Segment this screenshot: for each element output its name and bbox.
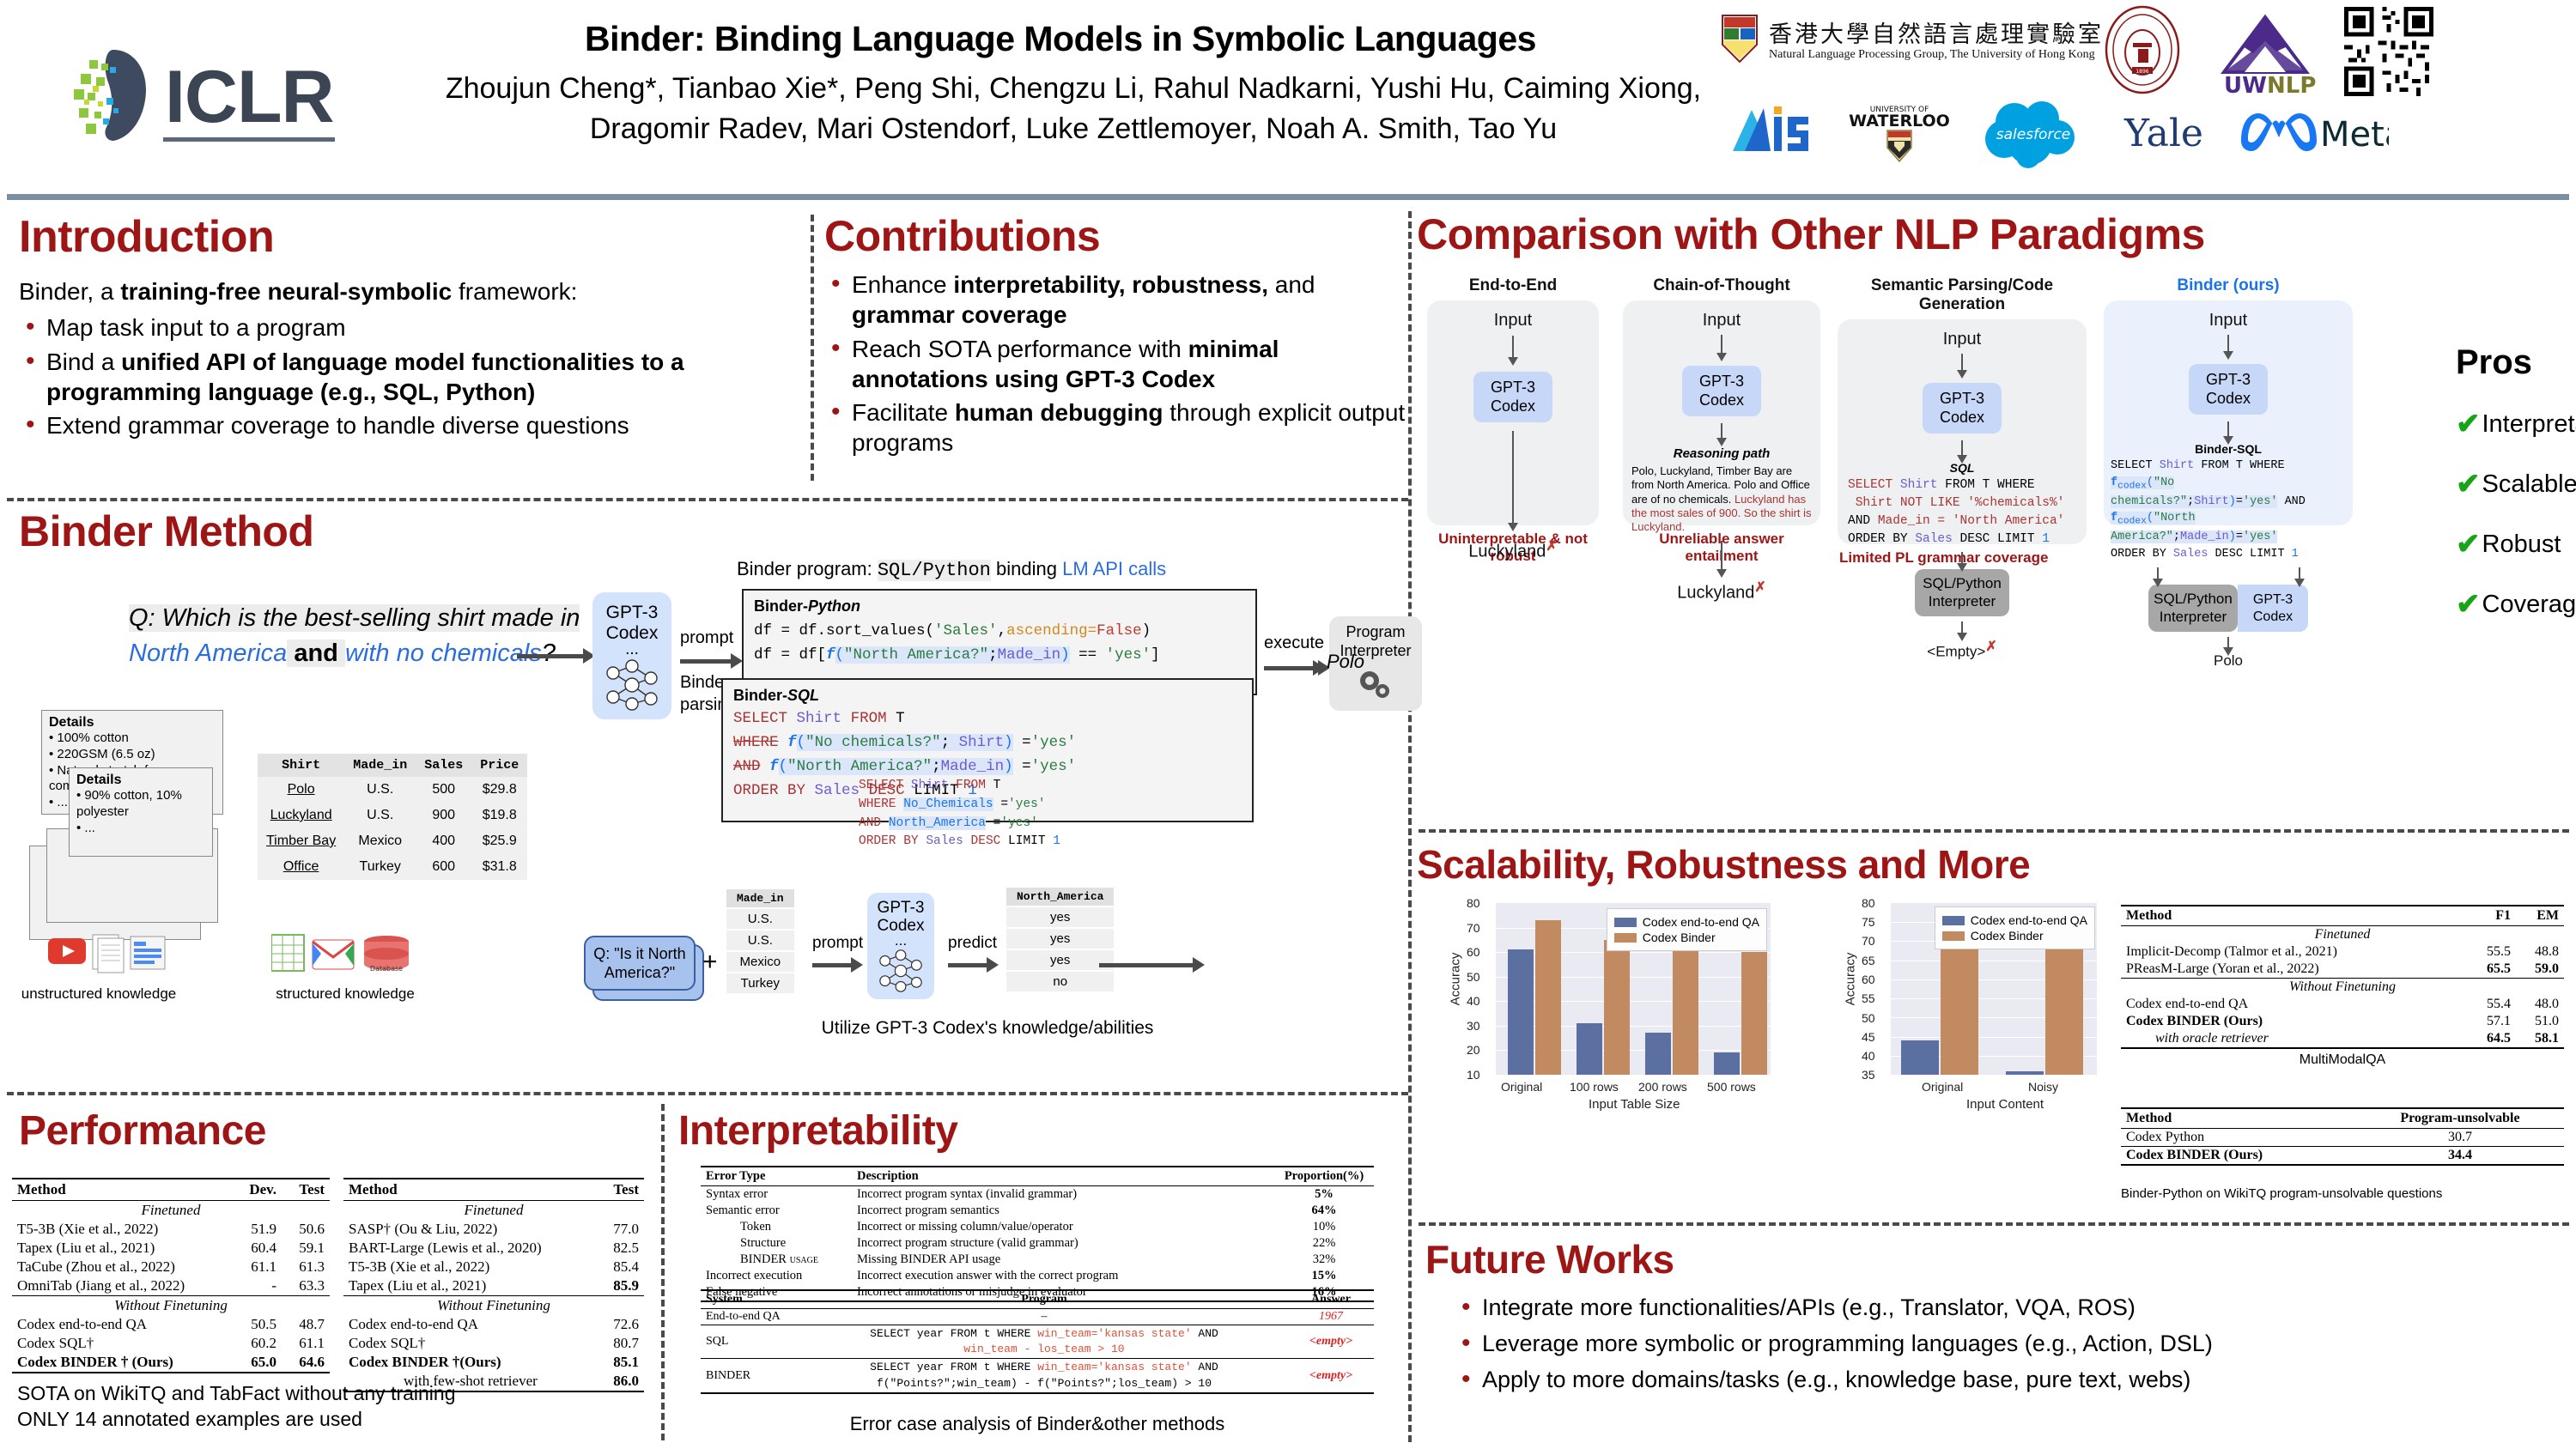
arrow-down-icon bbox=[1721, 423, 1722, 439]
table-row: SQL SELECT year FROM t WHERE win_team='k… bbox=[701, 1325, 1374, 1359]
divider-intro-method bbox=[7, 498, 1408, 501]
column-header: Method bbox=[343, 1179, 596, 1201]
pros-item: ✔Robust bbox=[2456, 530, 2576, 559]
column-header: Made_in bbox=[726, 889, 794, 907]
unstructured-knowledge-icons bbox=[48, 931, 177, 982]
x-tick: Original bbox=[1501, 1080, 1542, 1094]
chart-input-content: Codex end-to-end QA Codex Binder 80 75 7… bbox=[1846, 903, 2104, 1118]
list-item: Leverage more symbolic or programming la… bbox=[1455, 1329, 2567, 1358]
y-tick: 60 bbox=[1862, 973, 1875, 986]
author-list: Zhoujun Cheng*, Tianbao Xie*, Peng Shi, … bbox=[404, 69, 1743, 149]
divider-compare-scal bbox=[1419, 829, 2569, 833]
intro-lead-a: Binder, a bbox=[19, 278, 120, 305]
section-contributions: Contributions Enhance interpretability, … bbox=[824, 211, 1417, 462]
table-row: T5-3B (Xie et al., 2022)85.4 bbox=[343, 1258, 644, 1276]
arrow-down-icon bbox=[1961, 440, 1963, 456]
iclr-logo: ICLR bbox=[60, 45, 378, 148]
qr-code-icon bbox=[2344, 7, 2433, 96]
performance-title: Performance bbox=[19, 1107, 654, 1155]
x-tick: Original bbox=[1922, 1080, 1963, 1094]
table-row: Codex SQL†80.7 bbox=[343, 1334, 644, 1353]
table-row: BART-Large (Lewis et al., 2020)82.5 bbox=[343, 1239, 644, 1258]
unstructured-knowledge-caption: unstructured knowledge bbox=[17, 985, 180, 1003]
interpretability-title: Interpretability bbox=[678, 1107, 1425, 1155]
column-header: Description bbox=[852, 1167, 1274, 1186]
contributions-bullets: Enhance interpretability, robustness, an… bbox=[824, 270, 1417, 458]
table-row: End-to-end QA – 1967 bbox=[701, 1309, 1374, 1325]
section-scalability: Scalability, Robustness and More bbox=[1417, 841, 2567, 888]
arrow-down-icon bbox=[1721, 335, 1722, 354]
gpt3-codex-box: GPT-3Codex bbox=[1682, 366, 1761, 416]
hku-lab-name-cn: 香港大學自然語言處理實驗室 bbox=[1769, 15, 2104, 49]
svg-text:1896: 1896 bbox=[2136, 69, 2148, 75]
y-tick: 70 bbox=[1467, 921, 1480, 935]
table-error-cases: System Program Answer End-to-end QA – 19… bbox=[701, 1289, 1374, 1394]
table-row: OmniTab (Jiang et al., 2022)-63.3 bbox=[12, 1276, 330, 1296]
column-header: Dev. bbox=[234, 1179, 282, 1201]
svg-text:Database: Database bbox=[370, 965, 403, 973]
cell: U.S. bbox=[726, 931, 794, 950]
column-header: Method bbox=[12, 1179, 234, 1201]
table-row: Codex BINDER † (Ours)65.064.6 bbox=[12, 1353, 330, 1373]
table-header-row: Method F1 EM bbox=[2121, 906, 2564, 926]
contrib-b2-pre: Reach SOTA performance with bbox=[852, 336, 1188, 362]
gpt3-codex-box: GPT-3Codex bbox=[1923, 383, 2002, 433]
table-group-row: Without Finetuning bbox=[343, 1296, 644, 1316]
author-line-2: Dragomir Radev, Mari Ostendorf, Luke Zet… bbox=[404, 109, 1743, 149]
table-program-unsolvable: Method Program-unsolvable Codex Python30… bbox=[2121, 1107, 2564, 1166]
x-mark-icon: ✗ bbox=[1546, 539, 1557, 554]
gpt3-codex-box: GPT-3Codex bbox=[2238, 585, 2308, 632]
table-group-row: Finetuned bbox=[343, 1201, 644, 1221]
table-row: Codex end-to-end QA72.6 bbox=[343, 1315, 644, 1334]
bar-codex-qa bbox=[1714, 1052, 1740, 1075]
y-tick: 75 bbox=[1862, 915, 1875, 929]
arrow-down-icon bbox=[2157, 567, 2159, 579]
youtube-doc-icons bbox=[48, 931, 177, 978]
details-card-title: Details bbox=[49, 715, 216, 731]
x-axis-label: Input Table Size bbox=[1589, 1097, 1680, 1112]
table-row: SASP† (Ou & Liu, 2022)77.0 bbox=[343, 1220, 644, 1239]
list-item: Extend grammar coverage to handle divers… bbox=[19, 410, 792, 440]
iclr-wordmark: ICLR bbox=[165, 55, 334, 140]
contributions-title: Contributions bbox=[824, 211, 1417, 261]
arrow-down-icon bbox=[1961, 621, 1963, 634]
column-header: Price bbox=[471, 754, 527, 777]
paradigm-input-label: Input bbox=[1427, 311, 1599, 330]
arrow-right-icon bbox=[517, 654, 584, 658]
pros-item: ✔Scalable bbox=[2456, 470, 2576, 499]
future-bullets: Integrate more functionalities/APIs (e.g… bbox=[1425, 1293, 2567, 1394]
table-row: with oracle retriever64.558.1 bbox=[2121, 1030, 2564, 1048]
column-header: Test bbox=[596, 1179, 644, 1201]
cell: Turkey bbox=[726, 973, 794, 993]
paradigm-box: Input GPT-3Codex SQL SELECT Shirt FROM T… bbox=[1838, 319, 2087, 544]
svg-text:UW: UW bbox=[2224, 73, 2267, 94]
reasoning-path-label: Reasoning path bbox=[1631, 446, 1812, 461]
table-header-row: Method Test bbox=[343, 1179, 644, 1201]
details-card-item: • 220GSM (6.5 oz) bbox=[49, 747, 216, 763]
x-tick: 500 rows bbox=[1707, 1080, 1756, 1094]
contrib-b3-pre: Facilitate bbox=[852, 399, 955, 426]
list-item: Map task input to a program bbox=[19, 312, 792, 343]
divider-intro-contrib bbox=[811, 215, 814, 481]
column-header: Method bbox=[2121, 1108, 2356, 1129]
pros-list: Pros ✔Interpretable ✔Scalable ✔Robust ✔C… bbox=[2456, 343, 2576, 650]
table-row: Codex end-to-end QA55.448.0 bbox=[2121, 996, 2564, 1013]
codex-ellipsis: ... bbox=[867, 936, 934, 946]
poster-root: ICLR Binder: Binding Language Models in … bbox=[0, 0, 2576, 1449]
interpreter-row: SQL/PythonInterpreter GPT-3Codex bbox=[2109, 585, 2348, 632]
cell: yes bbox=[1006, 950, 1114, 970]
contrib-b3-bold: human debugging bbox=[955, 399, 1163, 426]
column-header: Sales bbox=[416, 754, 471, 777]
interpreter-box: SQL/PythonInterpreter bbox=[1915, 569, 2009, 616]
paradigm-input-label: Input bbox=[1631, 311, 1812, 330]
y-tick: 30 bbox=[1467, 1019, 1480, 1033]
affiliation-logos: 香港大學自然語言處理實驗室 Natural Language Processin… bbox=[1709, 0, 2576, 197]
neural-net-icon bbox=[601, 659, 663, 711]
bar-codex-binder bbox=[1941, 934, 1978, 1075]
ai2-logo-icon bbox=[1726, 103, 1820, 155]
section-interpretability: Interpretability bbox=[678, 1107, 1425, 1155]
gpt3-codex-box: GPT-3Codex bbox=[2189, 364, 2268, 415]
column-header: EM bbox=[2516, 906, 2564, 926]
column-header: Answer bbox=[1288, 1290, 1374, 1309]
table-row: Codex end-to-end QA50.548.7 bbox=[12, 1315, 330, 1334]
column-header: F1 bbox=[2468, 906, 2516, 926]
divider-method-perf bbox=[7, 1092, 1408, 1095]
x-mark-icon: ✗ bbox=[1985, 640, 1996, 654]
codex-label: GPT-3Codex bbox=[592, 603, 671, 644]
paradigm-box: Input GPT-3Codex Binder-SQL SELECT Shirt… bbox=[2104, 300, 2353, 525]
codex-box-main: GPT-3Codex ... bbox=[592, 592, 671, 719]
y-tick: 80 bbox=[1467, 896, 1480, 910]
table-row: Codex SQL†60.261.1 bbox=[12, 1334, 330, 1353]
method-answer: Polo bbox=[1327, 651, 1364, 673]
svg-text:Yale: Yale bbox=[2123, 112, 2203, 155]
column-header: System bbox=[701, 1290, 800, 1309]
future-title: Future Works bbox=[1425, 1236, 2567, 1282]
x-axis-label: Input Content bbox=[1966, 1097, 2044, 1112]
hku-lab-name-en: Natural Language Processing Group, The U… bbox=[1769, 48, 2095, 62]
table-header-row: Method Program-unsolvable bbox=[2121, 1108, 2564, 1129]
y-tick: 60 bbox=[1467, 945, 1480, 959]
table-group-row: Finetuned bbox=[12, 1201, 330, 1221]
arrow-down-icon bbox=[2227, 637, 2229, 648]
table-row: Tapex (Liu et al., 2021)85.9 bbox=[343, 1276, 644, 1296]
prompt-label-2: prompt bbox=[812, 934, 863, 953]
table-row: OfficeTurkey600$31.8 bbox=[258, 854, 527, 880]
bar-codex-binder bbox=[1604, 940, 1630, 1075]
y-tick: 40 bbox=[1862, 1049, 1875, 1063]
bar-codex-binder bbox=[1741, 952, 1767, 1075]
method-bottom-caption: Utilize GPT-3 Codex's knowledge/abilitie… bbox=[721, 1018, 1254, 1039]
column-header: Program bbox=[800, 1290, 1288, 1309]
table-group-row: Without Finetuning bbox=[2121, 979, 2564, 997]
paradigm-column-binder: Binder (ours) Input GPT-3Codex Binder-SQ… bbox=[2104, 276, 2353, 525]
gpt3-codex-box: GPT-3Codex bbox=[1473, 372, 1552, 422]
interpreter-box: SQL/PythonInterpreter bbox=[2148, 585, 2238, 632]
chart-legend: Codex end-to-end QA Codex Binder bbox=[1607, 908, 1767, 951]
pros-item: ✔Coverage bbox=[2456, 590, 2576, 619]
list-item: Integrate more functionalities/APIs (e.g… bbox=[1455, 1293, 2567, 1322]
bar-codex-binder bbox=[1673, 945, 1698, 1075]
details-card-item: • 100% cotton bbox=[49, 731, 216, 747]
table-error-types: Error Type Description Proportion(%) Syn… bbox=[701, 1166, 1374, 1302]
table-header-row: System Program Answer bbox=[701, 1290, 1374, 1309]
codex-label: GPT-3Codex bbox=[867, 900, 934, 936]
arrow-down-icon bbox=[2227, 421, 2229, 437]
performance-caption: SOTA on WikiTQ and TabFact without any t… bbox=[17, 1380, 653, 1433]
contrib-b1-pre: Enhance bbox=[852, 271, 953, 298]
legend-entry: Codex end-to-end QA bbox=[1942, 913, 2087, 927]
table-row: Codex Python30.7 bbox=[2121, 1129, 2564, 1147]
list-item: Enhance interpretability, robustness, an… bbox=[824, 270, 1417, 330]
paradigm-head: Binder (ours) bbox=[2104, 276, 2353, 295]
introduction-lead: Binder, a training-free neural-symbolic … bbox=[19, 276, 792, 307]
cell: U.S. bbox=[726, 909, 794, 929]
arrow-down-icon bbox=[1721, 541, 1722, 570]
legend-swatch bbox=[1614, 933, 1637, 943]
section-performance: Performance bbox=[19, 1107, 654, 1155]
table-row: Codex BINDER (Ours)34.4 bbox=[2121, 1147, 2564, 1166]
codex-question-bubble: Q: "Is it NorthAmerica?" bbox=[584, 936, 696, 991]
y-tick: 45 bbox=[1862, 1030, 1875, 1044]
final-sql-block: SELECT Shirt FROM T WHERE No_Chemicals =… bbox=[859, 777, 1060, 852]
binder-sql-code-block: SELECT Shirt FROM T WHERE fcodex("No che… bbox=[2109, 458, 2348, 562]
table-footer-row: MultiModalQA bbox=[2121, 1048, 2564, 1069]
arrow-down-icon bbox=[2227, 335, 2229, 352]
binder-python-title: Binder-Python bbox=[754, 597, 1245, 615]
neural-net-icon bbox=[875, 948, 927, 994]
case-program: SELECT year FROM t WHERE win_team='kansa… bbox=[800, 1325, 1288, 1359]
table-row: Codex BINDER (Ours)57.151.0 bbox=[2121, 1013, 2564, 1030]
divider-perf-interp bbox=[661, 1104, 665, 1440]
details-card-item: • ... bbox=[76, 821, 205, 837]
salesforce-logo-icon: salesforce bbox=[1975, 96, 2095, 168]
legend-swatch bbox=[1614, 918, 1637, 927]
table-row: T5-3B (Xie et al., 2022)51.950.6 bbox=[12, 1220, 330, 1239]
table-row: Timber BayMexico400$25.9 bbox=[258, 828, 527, 854]
table-header-row: Error Type Description Proportion(%) bbox=[701, 1167, 1374, 1186]
chart-plot-area: Codex end-to-end QA Codex Binder bbox=[1891, 903, 2097, 1075]
iclr-mark-icon bbox=[60, 45, 163, 146]
intro-lead-c: framework: bbox=[452, 278, 577, 305]
paradigm-box: Input GPT-3Codex Reasoning path Polo, Lu… bbox=[1623, 300, 1820, 525]
bar-codex-qa bbox=[1645, 1033, 1671, 1075]
column-header: North_America bbox=[1006, 888, 1114, 906]
bar-codex-binder bbox=[2045, 937, 2083, 1075]
list-item: Reach SOTA performance with minimal anno… bbox=[824, 334, 1417, 395]
question-and: and bbox=[287, 640, 345, 667]
sql-code-block: SELECT Shirt FROM T WHERE Shirt NOT LIKE… bbox=[1843, 476, 2081, 549]
column-header: Error Type bbox=[701, 1167, 852, 1186]
y-tick: 40 bbox=[1467, 994, 1480, 1008]
table-wikitq: Method Dev. Test Finetuned T5-3B (Xie et… bbox=[12, 1178, 330, 1373]
details-card-title: Details bbox=[76, 773, 205, 788]
table-row: PoloU.S.500$29.8 bbox=[258, 777, 527, 803]
paradigm-input-label: Input bbox=[2109, 311, 2348, 330]
y-tick: 70 bbox=[1862, 934, 1875, 948]
paradigm-column-end-to-end: End-to-End Input GPT-3Codex Luckyland✗ U… bbox=[1427, 276, 1599, 565]
check-icon: ✔ bbox=[2456, 530, 2481, 559]
table-row: Syntax errorIncorrect program syntax (in… bbox=[701, 1186, 1374, 1203]
y-tick: 50 bbox=[1467, 970, 1480, 984]
binder-python-code: df = df.sort_values('Sales',ascending=Fa… bbox=[754, 619, 1245, 667]
legend-entry: Codex Binder bbox=[1614, 931, 1759, 944]
x-tick: 200 rows bbox=[1638, 1080, 1687, 1094]
y-tick: 80 bbox=[1862, 896, 1875, 910]
table-row: BINDER SELECT year FROM t WHERE win_team… bbox=[701, 1359, 1374, 1393]
comparison-title: Comparison with Other NLP Paradigms bbox=[1417, 209, 2567, 259]
scalability-title: Scalability, Robustness and More bbox=[1417, 841, 2567, 888]
chart-input-table-size: Codex end-to-end QA Codex Binder 80 70 6… bbox=[1451, 903, 1777, 1118]
table-row: TaCube (Zhou et al., 2022)61.161.3 bbox=[12, 1258, 330, 1276]
arrow-right-icon bbox=[1264, 666, 1319, 670]
y-tick: 65 bbox=[1862, 954, 1875, 967]
plus-sign: + bbox=[702, 948, 718, 977]
uwnlp-logo-icon: UW NLP bbox=[2214, 12, 2317, 94]
legend-entry: Codex Binder bbox=[1942, 929, 2087, 943]
waterloo-logo-icon: UNIVERSITY OF WATERLOO bbox=[1846, 101, 1953, 163]
legend-entry: Codex end-to-end QA bbox=[1614, 915, 1759, 929]
list-item: Facilitate human debugging through expli… bbox=[824, 397, 1417, 458]
dual-arrows bbox=[2109, 567, 2348, 579]
made-in-column: Made_in U.S. U.S. Mexico Turkey bbox=[726, 889, 794, 995]
contrib-b1-mid: and bbox=[1268, 271, 1315, 298]
meta-wordmark: Meta bbox=[2320, 115, 2389, 155]
intro-bullet-3: Extend grammar coverage to handle divers… bbox=[46, 412, 629, 439]
codex-ellipsis: ... bbox=[592, 644, 671, 655]
chart-plot-area: Codex end-to-end QA Codex Binder bbox=[1496, 903, 1771, 1075]
chart-legend: Codex end-to-end QA Codex Binder bbox=[1935, 906, 2095, 949]
paradigm-head: Semantic Parsing/Code Generation bbox=[1838, 276, 2087, 314]
pros-title: Pros bbox=[2456, 343, 2576, 382]
list-item: Apply to more domains/tasks (e.g., knowl… bbox=[1455, 1365, 2567, 1394]
table-row: PReasM-Large (Yoran et al., 2022)65.559.… bbox=[2121, 961, 2564, 979]
table-group-row: Finetuned bbox=[2121, 926, 2564, 944]
intro-lead-bold: training-free neural-symbolic bbox=[120, 278, 452, 305]
program-header: Binder program: SQL/Python binding LM AP… bbox=[737, 558, 1166, 581]
details-card-item: • 90% cotton, 10% polyester bbox=[76, 788, 205, 821]
legend-swatch bbox=[1942, 916, 1965, 925]
table-row: Tapex (Liu et al., 2021)60.459.1 bbox=[12, 1239, 330, 1258]
list-item: Bind a unified API of language model fun… bbox=[19, 347, 792, 408]
question-highlight-1: North America bbox=[129, 640, 287, 667]
column-header: Program-unsolvable bbox=[2356, 1108, 2564, 1129]
arrow-right-icon bbox=[948, 963, 987, 967]
sheet-mail-db-icons: Database bbox=[271, 931, 417, 978]
table-group-row: Without Finetuning bbox=[12, 1296, 330, 1316]
check-icon: ✔ bbox=[2456, 470, 2481, 499]
paradigm-column-chain-of-thought: Chain-of-Thought Input GPT-3Codex Reason… bbox=[1623, 276, 1820, 565]
y-axis-label: Accuracy bbox=[1448, 953, 1462, 1006]
bar-codex-qa bbox=[1508, 949, 1534, 1075]
intro-bullet-2-bold: unified API of language model functional… bbox=[46, 349, 684, 405]
check-icon: ✔ bbox=[2456, 590, 2481, 619]
bar-codex-qa bbox=[2006, 1071, 2044, 1075]
x-tick: 100 rows bbox=[1570, 1080, 1619, 1094]
performance-caption-line-1: SOTA on WikiTQ and TabFact without any t… bbox=[17, 1380, 653, 1406]
cell: Mexico bbox=[726, 952, 794, 972]
bar-codex-qa bbox=[1577, 1023, 1602, 1075]
table-header-row: Shirt Made_in Sales Price bbox=[258, 754, 527, 777]
interpretability-caption: Error case analysis of Binder&other meth… bbox=[701, 1413, 1374, 1435]
case-program: SELECT year FROM t WHERE win_team='kansa… bbox=[800, 1359, 1288, 1393]
y-tick: 35 bbox=[1862, 1068, 1875, 1082]
cell: yes bbox=[1006, 907, 1114, 927]
iclr-underline bbox=[163, 137, 335, 142]
paradigm-head: Chain-of-Thought bbox=[1623, 276, 1820, 295]
performance-caption-line-2: ONLY 14 annotated examples are used bbox=[17, 1406, 653, 1432]
prompt-label-1: prompt bbox=[680, 628, 733, 648]
paradigm-input-label: Input bbox=[1843, 330, 2081, 349]
table-hybridqa: Method F1 EM Finetuned Implicit-Decomp (… bbox=[2121, 905, 2564, 1069]
predict-label: predict bbox=[948, 934, 997, 953]
details-card-2: Details • 90% cotton, 10% polyester • ..… bbox=[69, 767, 213, 857]
arrow-down-icon bbox=[1512, 336, 1514, 358]
arrow-right-icon bbox=[1099, 963, 1194, 967]
y-axis-label: Accuracy bbox=[1843, 953, 1857, 1006]
sjtu-logo-icon: 1896 bbox=[2104, 5, 2181, 94]
yale-logo-icon: Yale bbox=[2112, 106, 2215, 158]
bar-codex-qa bbox=[1901, 1040, 1939, 1075]
y-tick: 10 bbox=[1467, 1068, 1480, 1082]
table-row: BINDER usageMissing BINDER API usage32% bbox=[701, 1252, 1374, 1268]
intro-bullet-2-pre: Bind a bbox=[46, 349, 121, 375]
binder-sql-title: Binder-SQL bbox=[733, 687, 1242, 705]
section-comparison: Comparison with Other NLP Paradigms bbox=[1417, 209, 2567, 259]
table-row: StructureIncorrect program structure (va… bbox=[701, 1235, 1374, 1252]
table-row: Incorrect executionIncorrect execution a… bbox=[701, 1268, 1374, 1284]
y-tick: 50 bbox=[1862, 1011, 1875, 1025]
salesforce-wordmark: salesforce bbox=[1996, 126, 2071, 143]
column-header: Method bbox=[2121, 906, 2468, 926]
poster-header: ICLR Binder: Binding Language Models in … bbox=[0, 0, 2576, 199]
contrib-b1-bold2: grammar coverage bbox=[852, 301, 1067, 328]
author-line-1: Zhoujun Cheng*, Tianbao Xie*, Peng Shi, … bbox=[404, 69, 1743, 109]
table-row: Codex BINDER †(Ours)85.1 bbox=[343, 1353, 644, 1372]
table-row: Implicit-Decomp (Talmor et al., 2021)55.… bbox=[2121, 943, 2564, 961]
arrow-down-icon bbox=[1961, 552, 1963, 564]
divider-scal-future bbox=[1419, 1222, 2569, 1226]
paradigm-column-semantic-parsing: Semantic Parsing/Code Generation Input G… bbox=[1838, 276, 2087, 567]
bar-codex-binder bbox=[1535, 920, 1561, 1075]
question-highlight-2: with no chemicals bbox=[345, 640, 542, 667]
paradigm-output: Luckyland✗ bbox=[1631, 579, 1812, 603]
intro-bullet-1: Map task input to a program bbox=[46, 314, 346, 341]
x-tick: Noisy bbox=[2028, 1080, 2058, 1094]
example-data-table: Shirt Made_in Sales Price PoloU.S.500$29… bbox=[258, 754, 527, 880]
north-america-column: North_America yes yes yes no bbox=[1006, 888, 1114, 993]
x-mark-icon: ✗ bbox=[1754, 580, 1765, 595]
pros-item: ✔Interpretable bbox=[2456, 409, 2576, 439]
introduction-bullets: Map task input to a program Bind a unifi… bbox=[19, 312, 792, 440]
header-divider bbox=[7, 194, 2569, 200]
cell: no bbox=[1006, 972, 1114, 991]
check-icon: ✔ bbox=[2456, 409, 2481, 439]
question-prefix: Q: Which is the best-selling shirt made … bbox=[129, 604, 580, 632]
page-title: Binder: Binding Language Models in Symbo… bbox=[404, 19, 1717, 59]
table-header-row: Method Dev. Test bbox=[12, 1179, 330, 1201]
structured-knowledge-icons: Database bbox=[271, 931, 417, 982]
unsolvable-caption: Binder-Python on WikiTQ program-unsolvab… bbox=[2121, 1186, 2442, 1201]
arrow-down-icon bbox=[2299, 567, 2300, 579]
paradigm-head: End-to-End bbox=[1427, 276, 1599, 295]
table-row: LuckylandU.S.900$19.8 bbox=[258, 803, 527, 828]
method-title: Binder Method bbox=[19, 506, 1419, 556]
